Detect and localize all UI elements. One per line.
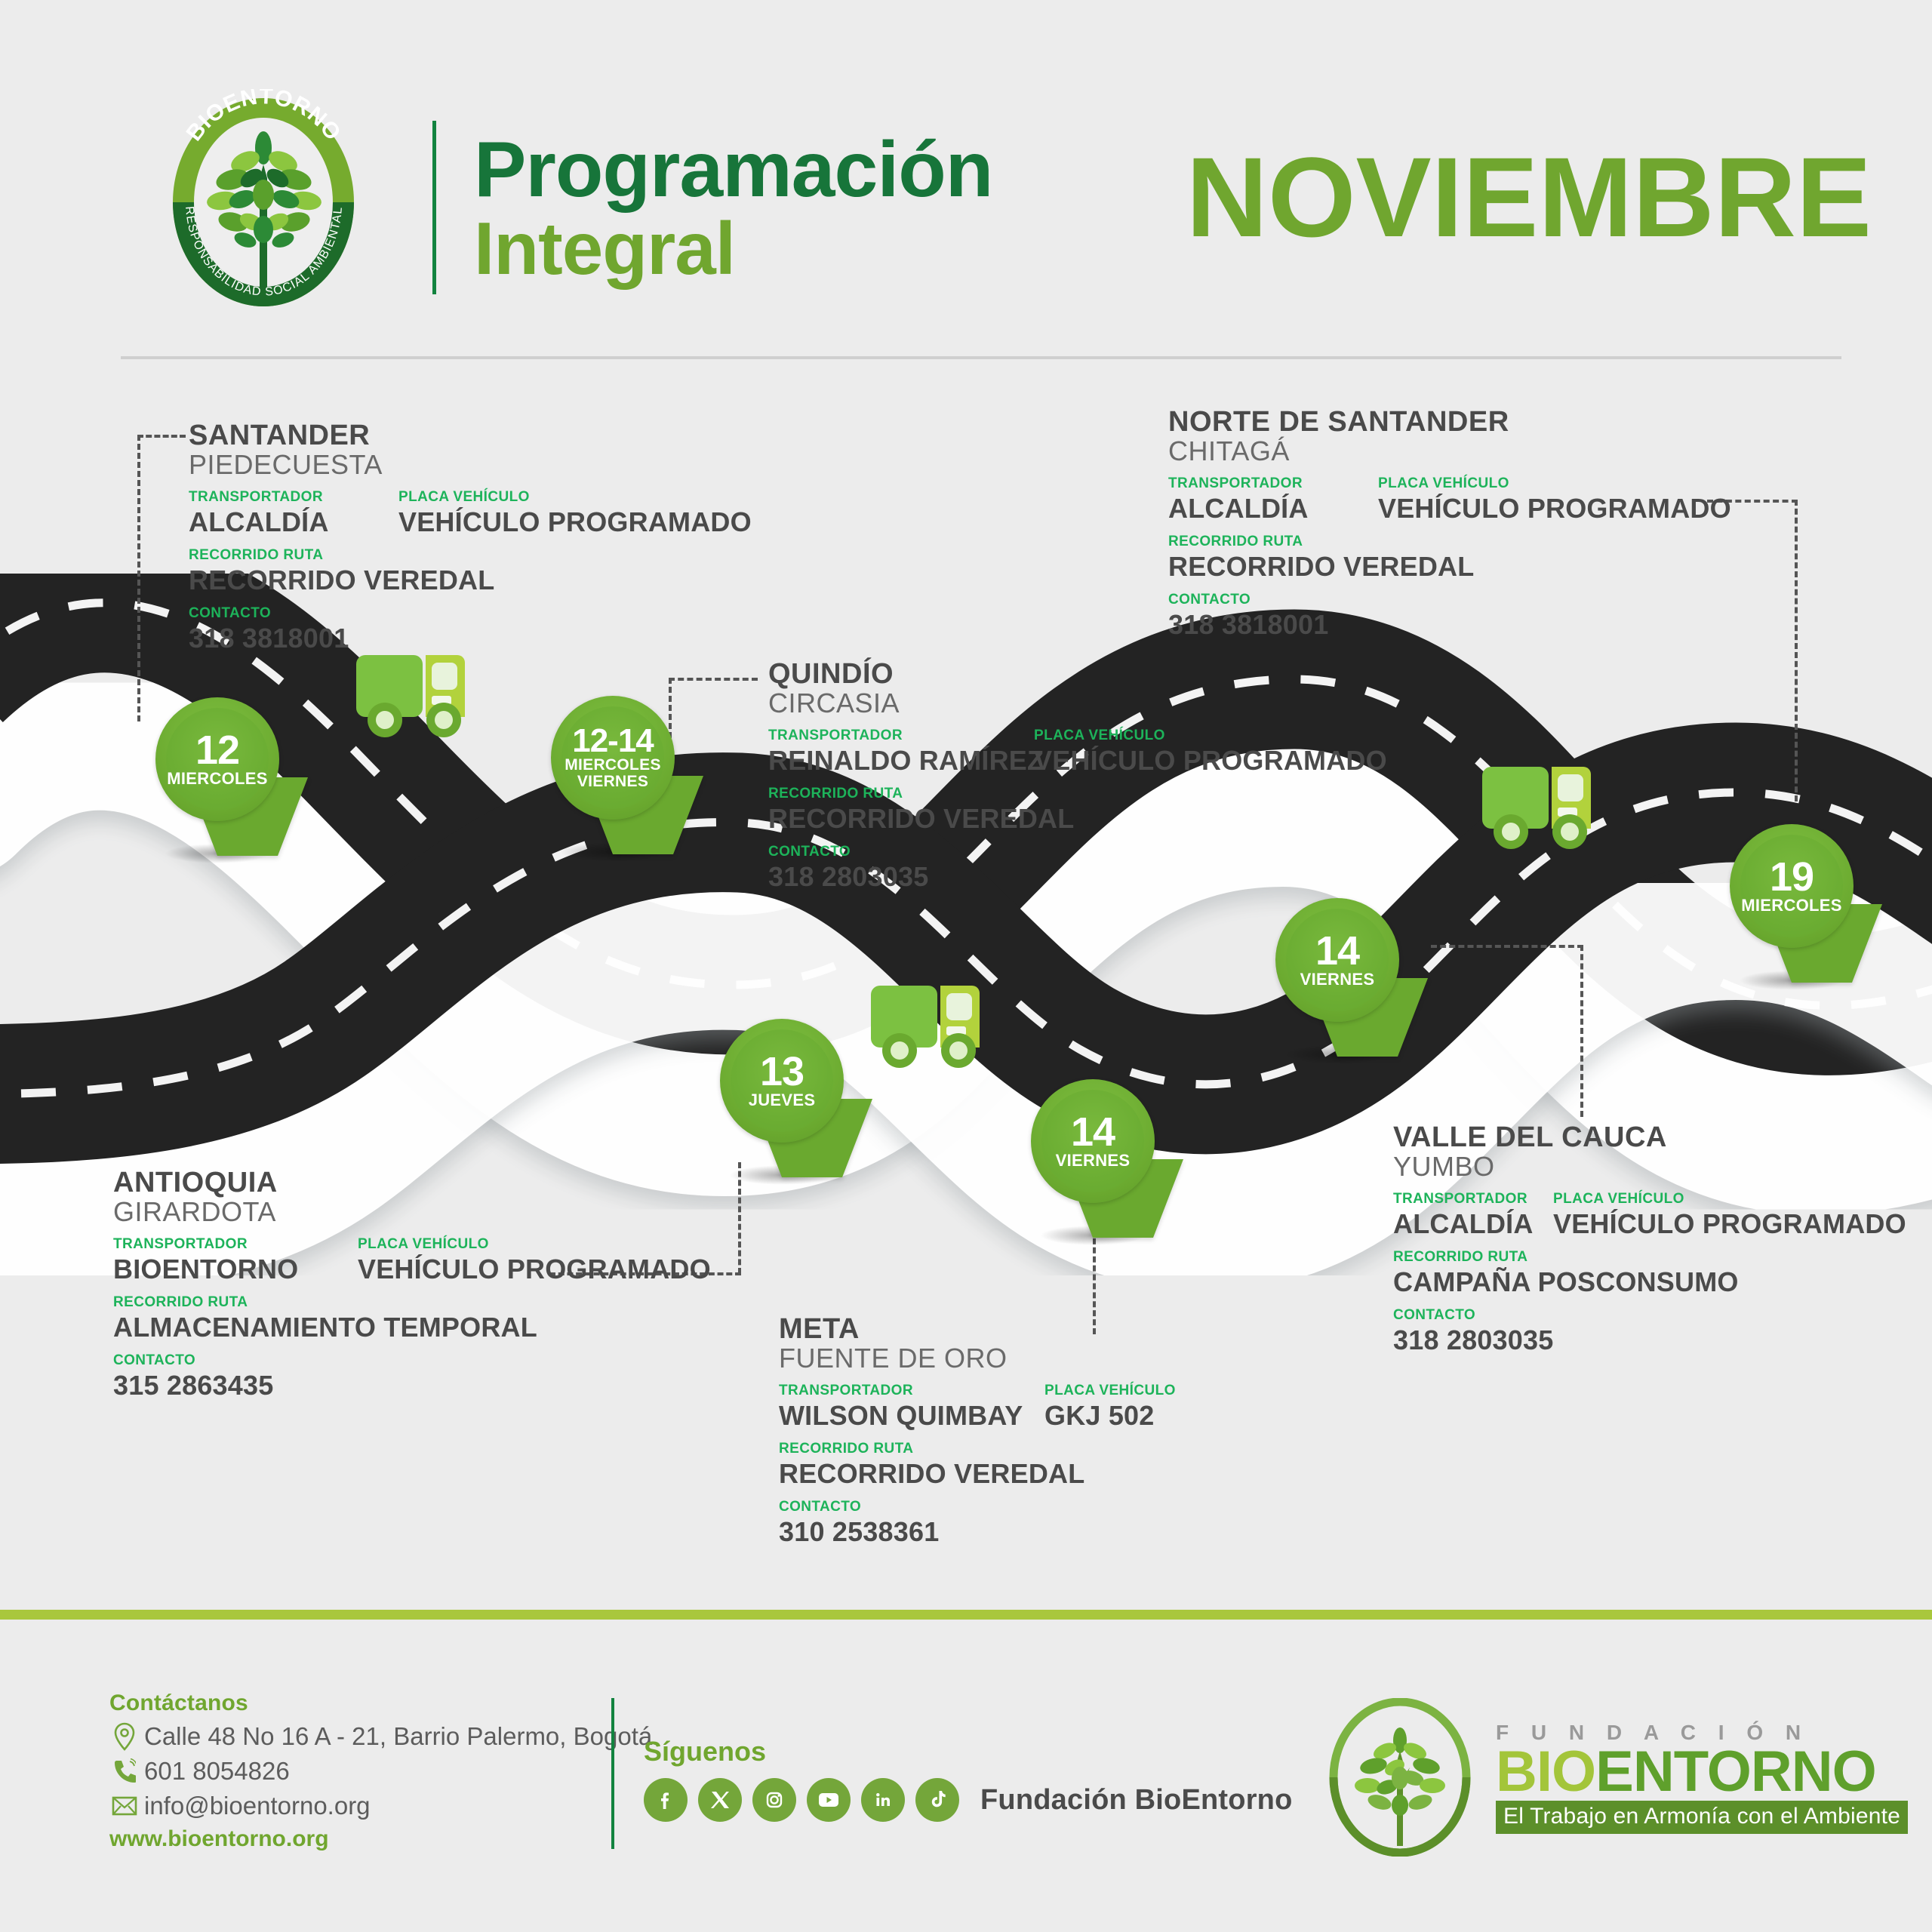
linkedin-icon[interactable] [861, 1778, 905, 1822]
field-label: PLACA VEHÍCULO [1044, 1383, 1176, 1399]
city-name: GIRARDOTA [113, 1198, 711, 1226]
field-value: 318 2803035 [1393, 1325, 1906, 1355]
footer-logo-tree-icon [1321, 1698, 1479, 1857]
department-name: QUINDÍO [768, 660, 1387, 689]
field-value: RECORRIDO VEREDAL [779, 1459, 1176, 1489]
field-recorrido: RECORRIDO RUTA CAMPAÑA POSCONSUMO [1393, 1250, 1906, 1297]
logo-name: BIOENTORNO [1496, 1745, 1908, 1799]
footer-divider [611, 1698, 614, 1849]
field-contacto: CONTACTO 318 3818001 [189, 606, 752, 654]
field-value: ALMACENAMIENTO TEMPORAL [113, 1312, 711, 1343]
follow-heading: Síguenos [644, 1736, 1293, 1767]
department-name: NORTE DE SANTANDER [1168, 408, 1731, 437]
field-label: PLACA VEHÍCULO [358, 1237, 711, 1253]
field-value: 318 3818001 [189, 623, 752, 654]
phone-line[interactable]: 601 8054826 [109, 1757, 659, 1786]
page-title: Programación Integral [474, 132, 992, 285]
header-divider [432, 121, 436, 294]
field-value: CAMPAÑA POSCONSUMO [1393, 1267, 1906, 1297]
social-icon-row: Fundación BioEntorno [644, 1778, 1293, 1822]
field-value: ALCALDÍA [1393, 1209, 1553, 1239]
pin-number: 14 [1315, 932, 1359, 971]
header: BIOENTORNO RESPONSABILIDAD SOCIAL AMBIEN… [0, 0, 1932, 355]
field-transportador: TRANSPORTADOR BIOENTORNO [113, 1237, 358, 1284]
connector-quindio-h [669, 678, 758, 681]
connector-santander-h [137, 435, 186, 438]
month-heading: NOVIEMBRE [1186, 140, 1872, 254]
field-contacto: CONTACTO 318 2803035 [768, 844, 1387, 892]
logo-name-bio: BIO [1496, 1740, 1595, 1804]
field-placa: PLACA VEHÍCULO VEHÍCULO PROGRAMADO [1034, 728, 1387, 776]
field-contacto: CONTACTO 310 2538361 [779, 1500, 1176, 1547]
pin-day: JUEVES [749, 1091, 816, 1109]
field-placa: PLACA VEHÍCULO GKJ 502 [1044, 1383, 1176, 1431]
city-name: YUMBO [1393, 1152, 1906, 1181]
field-recorrido: RECORRIDO RUTA RECORRIDO VEREDAL [1168, 534, 1731, 582]
pin-number: 12 [195, 731, 239, 770]
infographic-page: BIOENTORNO RESPONSABILIDAD SOCIAL AMBIEN… [0, 0, 1932, 1932]
logo-tagline: El Trabajo en Armonía con el Ambiente [1496, 1801, 1908, 1834]
field-placa: PLACA VEHÍCULO VEHÍCULO PROGRAMADO [358, 1237, 711, 1284]
x-twitter-icon[interactable] [698, 1778, 742, 1822]
pin-day: VIERNES [1300, 971, 1375, 988]
pin-inner: 12 MIERCOLES [166, 708, 269, 811]
pin-number: 13 [760, 1053, 804, 1091]
connector-valle [1580, 945, 1583, 1117]
field-label: TRANSPORTADOR [779, 1383, 1044, 1399]
field-transportador: TRANSPORTADOR WILSON QUIMBAY [779, 1383, 1044, 1431]
footer-accent-bar [0, 1610, 1932, 1620]
field-value: VEHÍCULO PROGRAMADO [1034, 746, 1387, 776]
city-name: PIEDECUESTA [189, 451, 752, 479]
pin-day: VIERNES [1056, 1152, 1131, 1169]
field-label: TRANSPORTADOR [189, 490, 398, 506]
contact-section: Contáctanos Calle 48 No 16 A - 21, Barri… [109, 1690, 659, 1852]
field-value: REINALDO RAMÍREZ [768, 746, 1034, 776]
email-line[interactable]: info@bioentorno.org [109, 1792, 659, 1820]
field-label: TRANSPORTADOR [1168, 476, 1378, 492]
brand-handle: Fundación BioEntorno [980, 1784, 1293, 1817]
field-label: RECORRIDO RUTA [768, 786, 1387, 802]
tiktok-icon[interactable] [915, 1778, 959, 1822]
pin-number: 14 [1071, 1113, 1115, 1152]
field-recorrido: RECORRIDO RUTA RECORRIDO VEREDAL [189, 548, 752, 595]
field-value: VEHÍCULO PROGRAMADO [1378, 494, 1731, 524]
field-value: 318 2803035 [768, 862, 1387, 892]
pin-inner: 14 VIERNES [1041, 1090, 1144, 1192]
field-label: TRANSPORTADOR [113, 1237, 358, 1253]
email-text: info@bioentorno.org [144, 1792, 371, 1820]
field-value: RECORRIDO VEREDAL [189, 565, 752, 595]
field-recorrido: RECORRIDO RUTA RECORRIDO VEREDAL [768, 786, 1387, 834]
field-label: CONTACTO [1393, 1308, 1906, 1324]
pin-day: MIERCOLES [167, 770, 268, 787]
field-value: VEHÍCULO PROGRAMADO [358, 1254, 711, 1284]
field-transportador: TRANSPORTADOR ALCALDÍA [1168, 476, 1378, 524]
envelope-icon [109, 1795, 140, 1817]
field-label: RECORRIDO RUTA [1393, 1250, 1906, 1266]
field-label: CONTACTO [1168, 592, 1731, 608]
field-placa: PLACA VEHÍCULO VEHÍCULO PROGRAMADO [1378, 476, 1731, 524]
city-name: CHITAGÁ [1168, 437, 1731, 466]
info-block-santander: SANTANDER PIEDECUESTA TRANSPORTADOR ALCA… [189, 421, 752, 654]
field-label: TRANSPORTADOR [768, 728, 1034, 744]
footer-logo-text: F U N D A C I Ó N BIOENTORNO El Trabajo … [1496, 1721, 1908, 1834]
field-label: CONTACTO [189, 606, 752, 622]
field-value: BIOENTORNO [113, 1254, 358, 1284]
pin-number: 19 [1770, 858, 1814, 897]
department-name: SANTANDER [189, 421, 752, 451]
pin-inner: 19 MIERCOLES [1740, 835, 1843, 937]
field-contacto: CONTACTO 318 2803035 [1393, 1308, 1906, 1355]
field-value: 318 3818001 [1168, 610, 1731, 640]
field-value: 310 2538361 [779, 1517, 1176, 1547]
title-line-1: Programación [474, 132, 992, 209]
field-recorrido: RECORRIDO RUTA RECORRIDO VEREDAL [779, 1441, 1176, 1489]
field-label: CONTACTO [113, 1353, 711, 1369]
info-block-quindio: QUINDÍO CIRCASIA TRANSPORTADOR REINALDO … [768, 660, 1387, 893]
pin-inner: 13 JUEVES [731, 1029, 833, 1132]
field-transportador: TRANSPORTADOR ALCALDÍA [189, 490, 398, 537]
info-block-antioquia: ANTIOQUIA GIRARDOTA TRANSPORTADOR BIOENT… [113, 1168, 711, 1401]
field-recorrido: RECORRIDO RUTA ALMACENAMIENTO TEMPORAL [113, 1295, 711, 1343]
field-label: RECORRIDO RUTA [189, 548, 752, 564]
field-value: VEHÍCULO PROGRAMADO [398, 507, 752, 537]
field-transportador: TRANSPORTADOR ALCALDÍA [1393, 1192, 1553, 1239]
facebook-icon[interactable] [644, 1778, 688, 1822]
department-name: VALLE DEL CAUCA [1393, 1123, 1906, 1152]
pin-day-2: VIERNES [577, 774, 648, 790]
address-text: Calle 48 No 16 A - 21, Barrio Palermo, B… [144, 1722, 659, 1751]
location-pin-icon [109, 1722, 140, 1751]
field-value: RECORRIDO VEREDAL [1168, 552, 1731, 582]
info-block-norte-de-santander: NORTE DE SANTANDER CHITAGÁ TRANSPORTADOR… [1168, 408, 1731, 641]
field-label: CONTACTO [768, 844, 1387, 860]
pin-day-1: MIERCOLES [565, 757, 661, 774]
department-name: ANTIOQUIA [113, 1168, 711, 1198]
instagram-icon[interactable] [752, 1778, 796, 1822]
connector-santander [137, 435, 140, 721]
field-label: RECORRIDO RUTA [1168, 534, 1731, 550]
field-contacto: CONTACTO 315 2863435 [113, 1353, 711, 1401]
field-contacto: CONTACTO 318 3818001 [1168, 592, 1731, 640]
phone-text: 601 8054826 [144, 1757, 290, 1786]
field-placa: PLACA VEHÍCULO VEHÍCULO PROGRAMADO [398, 490, 752, 537]
field-transportador: TRANSPORTADOR REINALDO RAMÍREZ [768, 728, 1034, 776]
field-placa: PLACA VEHÍCULO VEHÍCULO PROGRAMADO [1553, 1192, 1906, 1239]
field-label: PLACA VEHÍCULO [398, 490, 752, 506]
field-value: GKJ 502 [1044, 1401, 1176, 1431]
field-label: RECORRIDO RUTA [779, 1441, 1176, 1457]
pin-day: MIERCOLES [1741, 897, 1842, 914]
field-value: ALCALDÍA [189, 507, 398, 537]
bioentorno-logo: BIOENTORNO RESPONSABILIDAD SOCIAL AMBIEN… [161, 89, 367, 308]
logo-name-entorno: ENTORNO [1595, 1740, 1876, 1804]
youtube-icon[interactable] [807, 1778, 851, 1822]
header-rule [121, 356, 1841, 359]
pin-inner: 14 VIERNES [1286, 909, 1389, 1011]
follow-section: Síguenos Fundación BioEntorno [644, 1736, 1293, 1822]
city-name: FUENTE DE ORO [779, 1344, 1176, 1373]
field-value: 315 2863435 [113, 1371, 711, 1401]
field-value: RECORRIDO VEREDAL [768, 804, 1387, 834]
field-label: PLACA VEHÍCULO [1553, 1192, 1906, 1207]
pin-inner: 12-14 MIERCOLES VIERNES [561, 706, 664, 809]
contact-heading: Contáctanos [109, 1690, 659, 1716]
field-value: ALCALDÍA [1168, 494, 1378, 524]
field-value: WILSON QUIMBAY [779, 1401, 1044, 1431]
connector-norte-santander [1795, 500, 1798, 801]
footer-logo: F U N D A C I Ó N BIOENTORNO El Trabajo … [1321, 1698, 1908, 1857]
title-line-2: Integral [474, 212, 992, 285]
field-label: PLACA VEHÍCULO [1378, 476, 1731, 492]
field-label: RECORRIDO RUTA [113, 1295, 711, 1311]
field-label: PLACA VEHÍCULO [1034, 728, 1387, 744]
website-link[interactable]: www.bioentorno.org [109, 1826, 659, 1852]
info-block-valle-del-cauca: VALLE DEL CAUCA YUMBO TRANSPORTADOR ALCA… [1393, 1123, 1906, 1356]
field-value: VEHÍCULO PROGRAMADO [1553, 1209, 1906, 1239]
connector-valle-h [1431, 945, 1583, 948]
phone-icon [109, 1758, 140, 1784]
address-line: Calle 48 No 16 A - 21, Barrio Palermo, B… [109, 1722, 659, 1751]
info-block-meta: META FUENTE DE ORO TRANSPORTADOR WILSON … [779, 1315, 1176, 1548]
pin-number: 12-14 [572, 725, 654, 757]
city-name: CIRCASIA [768, 689, 1387, 718]
department-name: META [779, 1315, 1176, 1344]
field-label: CONTACTO [779, 1500, 1176, 1515]
field-label: TRANSPORTADOR [1393, 1192, 1553, 1207]
